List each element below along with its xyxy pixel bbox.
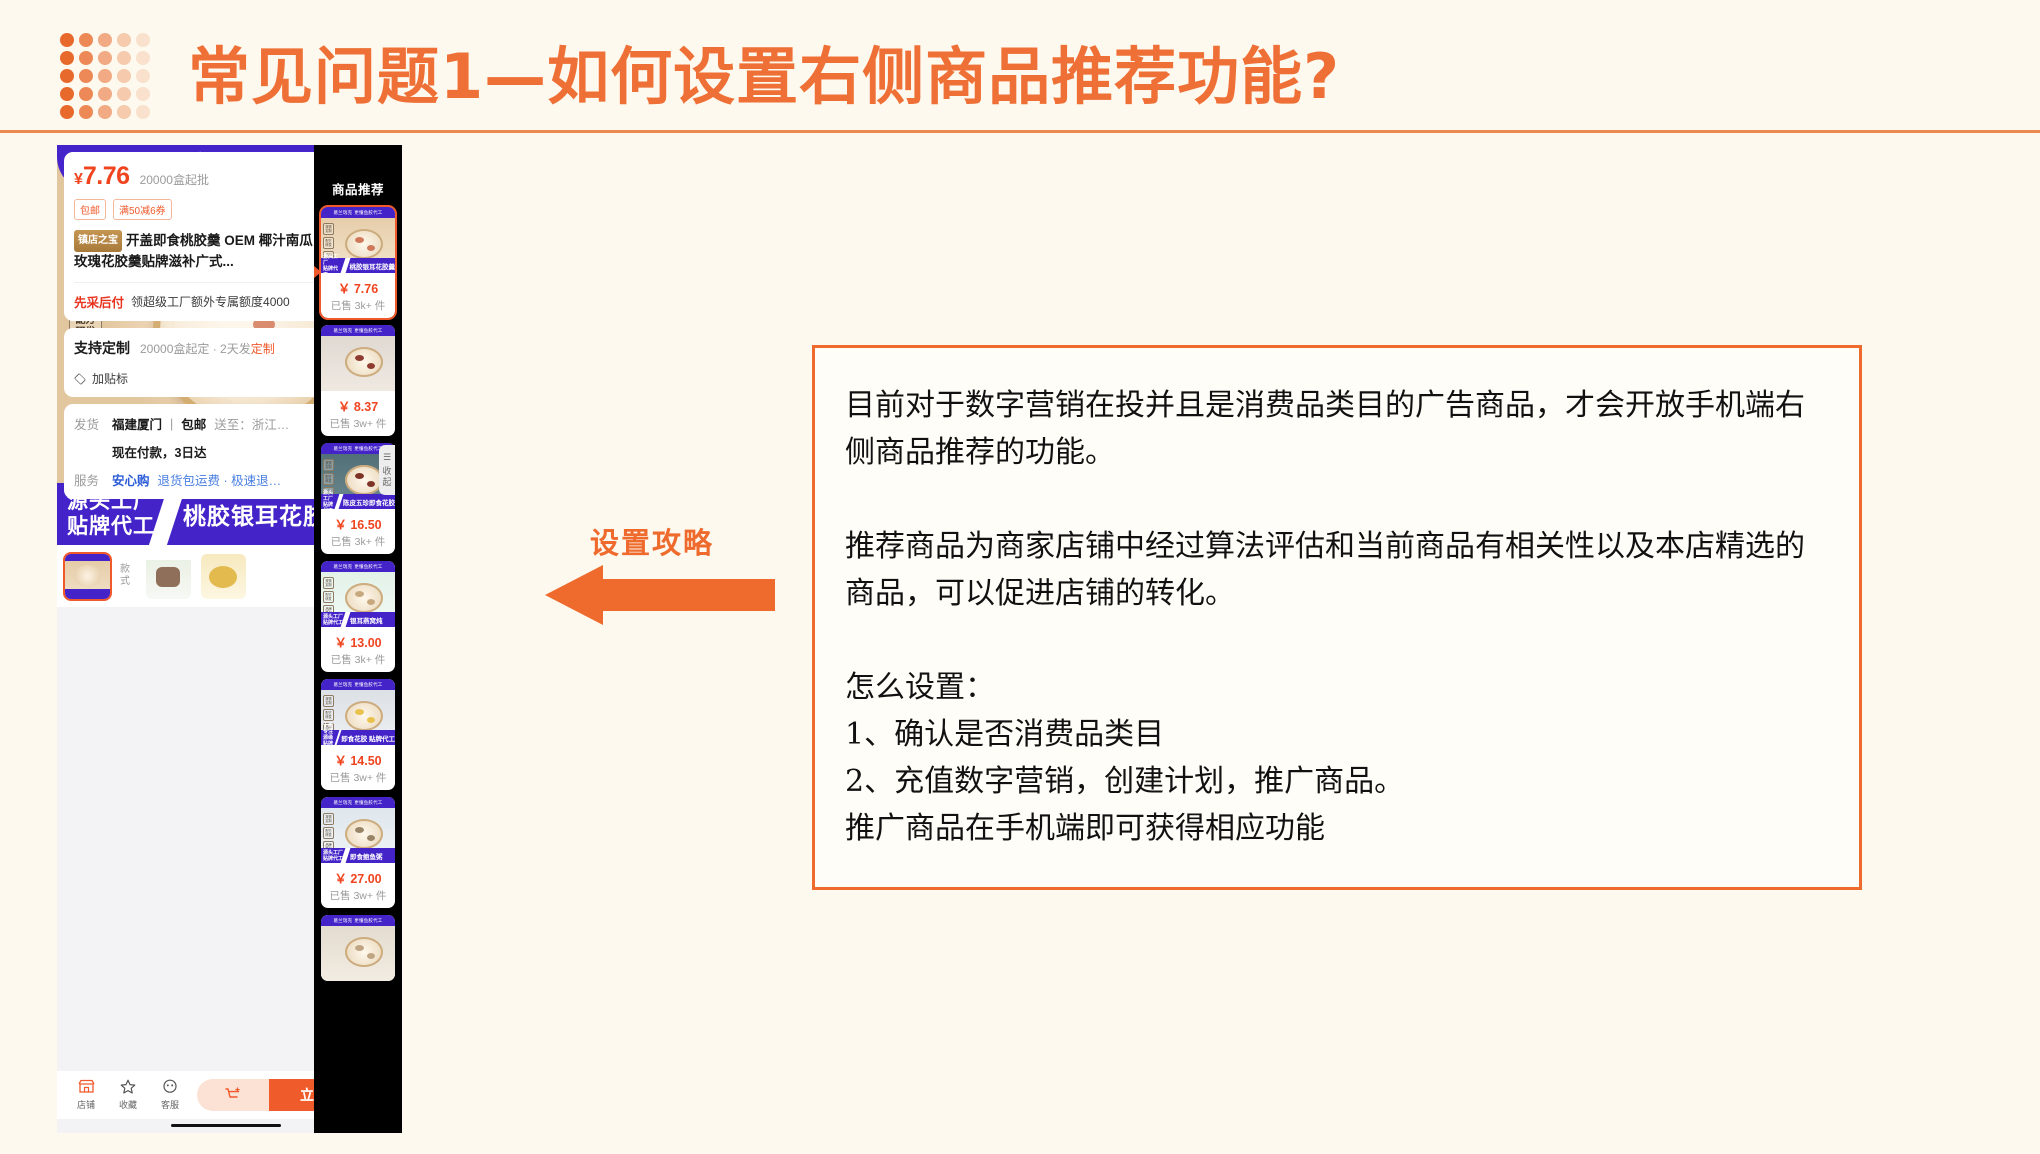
dot (98, 87, 112, 101)
shipping-destination: 送至：浙江… (214, 414, 289, 433)
rail-banner-left: 源头工厂贴牌代工 (321, 614, 343, 626)
dot (60, 87, 74, 101)
rail-card-image: 葛兰瑞克更懂鱼胶代工按需定制配方研发品牌策划十年专注源缘贴牌代工即食花胶 贴牌代… (321, 679, 395, 745)
rail-card-price: ￥ 16.50 (321, 509, 395, 534)
rail-card-topping (367, 245, 375, 251)
pointer-arrow (545, 565, 775, 625)
rail-title: 商品推荐 (321, 179, 395, 198)
slide-header: 常见问题1—如何设置右侧商品推荐功能? (0, 0, 2040, 132)
rail-card-chips: 按需定制配方研发品牌策划 (323, 813, 334, 853)
shipping-origin: 福建厦门 (112, 414, 162, 433)
rail-card-bowl (345, 937, 383, 967)
rail-chip: 按需定制 (323, 813, 334, 825)
rail-card-topping (355, 709, 364, 715)
shop-icon (65, 1079, 107, 1098)
service-assured: 安心购 (112, 470, 150, 489)
slide-root: 常见问题1—如何设置右侧商品推荐功能? G grandrect 葛兰瑞克 更懂鱼… (0, 0, 2040, 1154)
rail-card-price: ￥ 27.00 (321, 863, 395, 888)
rail-card-banner: 源头工厂贴牌代工陈皮五珍即食花胶 (321, 494, 395, 509)
label-sticker-text: 加贴标 (92, 370, 128, 387)
shipping-separator: | (170, 417, 173, 431)
rail-chip: 按需定制 (323, 223, 334, 235)
bottom-item-label: 店铺 (65, 1098, 107, 1111)
service-label: 服务 (74, 470, 104, 489)
rail-card-sold: 已售 3w+ 件 (321, 416, 395, 436)
rail-banner-right: 陈皮五珍即食花胶 (341, 497, 395, 507)
explanation-paragraph: 推荐商品为商家店铺中经过算法评估和当前商品有相关性以及本店精选的商品，可以促进店… (845, 523, 1829, 617)
dot (60, 33, 74, 47)
payment-terms: 现在付款，3日达 (112, 442, 206, 461)
dot (117, 69, 131, 83)
rail-card-topping (367, 363, 375, 369)
rail-card-sold: 已售 3k+ 件 (321, 534, 395, 554)
shipping-free: 包邮 (181, 414, 206, 433)
home-indicator (171, 1124, 281, 1127)
rail-card-topping (355, 827, 364, 833)
rail-card-brandbar: 葛兰瑞克更懂鱼胶代工 (321, 561, 395, 572)
rail-card-price: ￥ 7.76 (321, 273, 395, 298)
add-to-cart-icon[interactable] (197, 1079, 269, 1111)
rail-banner-left: 源头工厂贴牌代工 (321, 850, 343, 862)
explanation-paragraph: 1、确认是否消费品类目 (845, 711, 1829, 758)
rail-banner-left: 源头工厂贴牌代工 (321, 254, 343, 274)
rail-card-sold: 已售 3k+ 件 (321, 298, 395, 318)
rail-banner-right: 即食鲍鱼粥 (348, 851, 383, 861)
rail-card-bowl (345, 819, 383, 849)
rail-card-image: 葛兰瑞克更懂鱼胶代工按需定制配方研发品牌策划源头工厂贴牌代工即食鲍鱼粥 (321, 797, 395, 863)
rail-card-price: ￥ 8.37 (321, 391, 395, 416)
rail-banner-right: 桃胶银耳花胶羹 (348, 261, 396, 271)
dot (136, 33, 150, 47)
dot (60, 51, 74, 65)
promo-tag: 满50减6券 (113, 199, 172, 220)
dot (79, 105, 93, 119)
rail-card-banner: 源头工厂贴牌代工桃胶银耳花胶羹 (321, 258, 395, 273)
dot (98, 33, 112, 47)
customization-label: 支持定制 (74, 338, 130, 358)
rail-product-card[interactable]: 葛兰瑞克更懂鱼胶代工按需定制配方研发品牌策划十年专注源缘贴牌代工即食花胶 贴牌代… (321, 679, 395, 790)
rail-card-sold: 已售 3w+ 件 (321, 770, 395, 790)
rail-card-bowl (345, 465, 383, 495)
decorative-dot-grid (60, 33, 155, 123)
page-title: 常见问题1—如何设置右侧商品推荐功能? (188, 26, 1340, 116)
rail-card-banner: 源头工厂贴牌代工银耳燕窝炖 (321, 612, 395, 627)
rail-card-image: 葛兰瑞克更懂鱼胶代工按需定制配方研发品牌策划源头工厂贴牌代工银耳燕窝炖 (321, 561, 395, 627)
paragraph-spacer (845, 476, 1829, 523)
rail-card-sold: 已售 3w+ 件 (321, 888, 395, 908)
rail-chip: 配方研发 (323, 473, 334, 485)
dot (136, 51, 150, 65)
rail-banner-right: 即食花胶 贴牌代工 (339, 733, 395, 743)
dot (60, 69, 74, 83)
shop-treasure-badge: 镇店之宝 (74, 230, 122, 252)
rail-card-topping (355, 591, 364, 597)
promo-tag: 包邮 (74, 199, 106, 220)
rail-chip: 配方研发 (323, 827, 334, 839)
rail-card-topping (355, 473, 364, 479)
rail-card-topping (367, 835, 375, 841)
dot (79, 87, 93, 101)
rail-card-price: ￥ 14.50 (321, 745, 395, 770)
explanation-paragraph: 怎么设置： (845, 664, 1829, 711)
star-icon (107, 1079, 149, 1098)
rail-card-brandbar: 葛兰瑞克更懂鱼胶代工 (321, 207, 395, 218)
dot (98, 51, 112, 65)
bottom-item-service[interactable]: 客服 (149, 1079, 191, 1111)
rail-chip: 按需定制 (323, 695, 334, 707)
dot (136, 69, 150, 83)
paragraph-spacer (845, 617, 1829, 664)
service-returns: 退货包运费 · 极速退… (158, 470, 282, 489)
thumbnail-item[interactable] (146, 554, 191, 599)
explanation-paragraph: 推广商品在手机端即可获得相应功能 (845, 805, 1829, 852)
guide-label: 设置攻略 (590, 520, 714, 562)
header-divider (0, 130, 2040, 133)
rail-card-bowl (345, 229, 383, 259)
collapse-side-tab[interactable]: ☰收起 (379, 445, 395, 495)
rail-chip: 配方研发 (323, 709, 334, 721)
rail-card-image: 葛兰瑞克更懂鱼胶代工 (321, 915, 395, 981)
rail-product-card[interactable]: 葛兰瑞克更懂鱼胶代工￥ 8.37已售 3w+ 件 (321, 325, 395, 436)
bottom-item-label: 客服 (149, 1098, 191, 1111)
dot (98, 105, 112, 119)
explanation-textbox: 目前对于数字营销在投并且是消费品类目的广告商品，才会开放手机端右侧商品推荐的功能… (812, 345, 1862, 890)
price-value: ¥7.76 (74, 162, 130, 191)
thumbnail-item[interactable] (65, 554, 110, 599)
rail-chip: 按需定制 (323, 577, 334, 589)
dot (136, 105, 150, 119)
phone-screenshot: G grandrect 葛兰瑞克 更懂鱼胶代工 15:50 (57, 145, 402, 1133)
rail-card-sold: 已售 3k+ 件 (321, 652, 395, 672)
rail-card-topping (355, 237, 364, 243)
rail-card-chips: 按需定制配方研发品牌策划 (323, 577, 334, 617)
dot (79, 69, 93, 83)
bottom-item-label: 收藏 (107, 1098, 149, 1111)
dot (117, 105, 131, 119)
dot (117, 33, 131, 47)
rail-card-topping (367, 481, 375, 487)
rail-card-brandbar: 葛兰瑞克更懂鱼胶代工 (321, 679, 395, 690)
dot (60, 105, 74, 119)
product-recommendation-rail: 商品推荐 葛兰瑞克更懂鱼胶代工按需定制配方研发品牌策划源头工厂贴牌代工桃胶银耳花… (314, 145, 402, 1133)
rail-card-topping (367, 953, 375, 959)
rail-card-topping (355, 355, 364, 361)
rail-chip: 按需定制 (323, 459, 334, 471)
rail-card-brandbar: 葛兰瑞克更懂鱼胶代工 (321, 797, 395, 808)
rail-card-bowl (345, 347, 383, 377)
rail-selection-pointer (314, 265, 321, 279)
rail-card-topping (355, 945, 364, 951)
bottom-item-shop[interactable]: 店铺 (65, 1079, 107, 1111)
shipping-label: 发货 (74, 414, 104, 433)
thumbnail-group-label: 款式 (120, 564, 136, 588)
rail-card-brandbar: 葛兰瑞克更懂鱼胶代工 (321, 325, 395, 336)
rail-chip: 配方研发 (323, 237, 334, 249)
dot (79, 33, 93, 47)
rail-card-topping (367, 717, 375, 723)
rail-card-list: 葛兰瑞克更懂鱼胶代工按需定制配方研发品牌策划源头工厂贴牌代工桃胶银耳花胶羹￥ 7… (321, 207, 395, 981)
layers-icon (74, 373, 86, 385)
dot (98, 69, 112, 83)
min-order-quantity: 20000盒起批 (140, 171, 209, 188)
rail-card-image: 葛兰瑞克更懂鱼胶代工 (321, 325, 395, 391)
rail-card-bowl (345, 701, 383, 731)
rail-card-image: 葛兰瑞克更懂鱼胶代工按需定制配方研发品牌策划源头工厂贴牌代工桃胶银耳花胶羹 (321, 207, 395, 273)
bottom-item-favorite[interactable]: 收藏 (107, 1079, 149, 1111)
rail-banner-right: 银耳燕窝炖 (348, 615, 383, 625)
rail-card-banner: 十年专注源缘贴牌代工即食花胶 贴牌代工 (321, 730, 395, 745)
customization-value: 20000盒起定 · 2天发定制 (140, 340, 275, 357)
arrow-head (545, 565, 603, 625)
rail-card-price: ￥ 13.00 (321, 627, 395, 652)
dot (136, 87, 150, 101)
rail-product-card[interactable]: 葛兰瑞克更懂鱼胶代工按需定制配方研发品牌策划源头工厂贴牌代工即食鲍鱼粥￥ 27.… (321, 797, 395, 908)
rail-card-brandbar: 葛兰瑞克更懂鱼胶代工 (321, 915, 395, 926)
dot (117, 87, 131, 101)
service-icon (149, 1079, 191, 1098)
rail-product-card[interactable]: 葛兰瑞克更懂鱼胶代工按需定制配方研发品牌策划源头工厂贴牌代工银耳燕窝炖￥ 13.… (321, 561, 395, 672)
arrow-shaft (600, 579, 775, 611)
rail-product-card[interactable]: 葛兰瑞克更懂鱼胶代工按需定制配方研发品牌策划源头工厂贴牌代工桃胶银耳花胶羹￥ 7… (321, 207, 395, 318)
dot (79, 51, 93, 65)
rail-card-topping (367, 599, 375, 605)
rail-product-card[interactable]: 葛兰瑞克更懂鱼胶代工 (321, 915, 395, 981)
dot (117, 51, 131, 65)
credit-label: 先采后付 (74, 292, 124, 311)
explanation-paragraph: 目前对于数字营销在投并且是消费品类目的广告商品，才会开放手机端右侧商品推荐的功能… (845, 382, 1829, 476)
explanation-paragraph: 2、充值数字营销，创建计划，推广商品。 (845, 758, 1829, 805)
rail-card-banner: 源头工厂贴牌代工即食鲍鱼粥 (321, 848, 395, 863)
thumbnail-item[interactable] (201, 554, 246, 599)
rail-card-bowl (345, 583, 383, 613)
credit-desc: 领超级工厂额外专属额度4000 (131, 293, 290, 310)
rail-chip: 配方研发 (323, 591, 334, 603)
